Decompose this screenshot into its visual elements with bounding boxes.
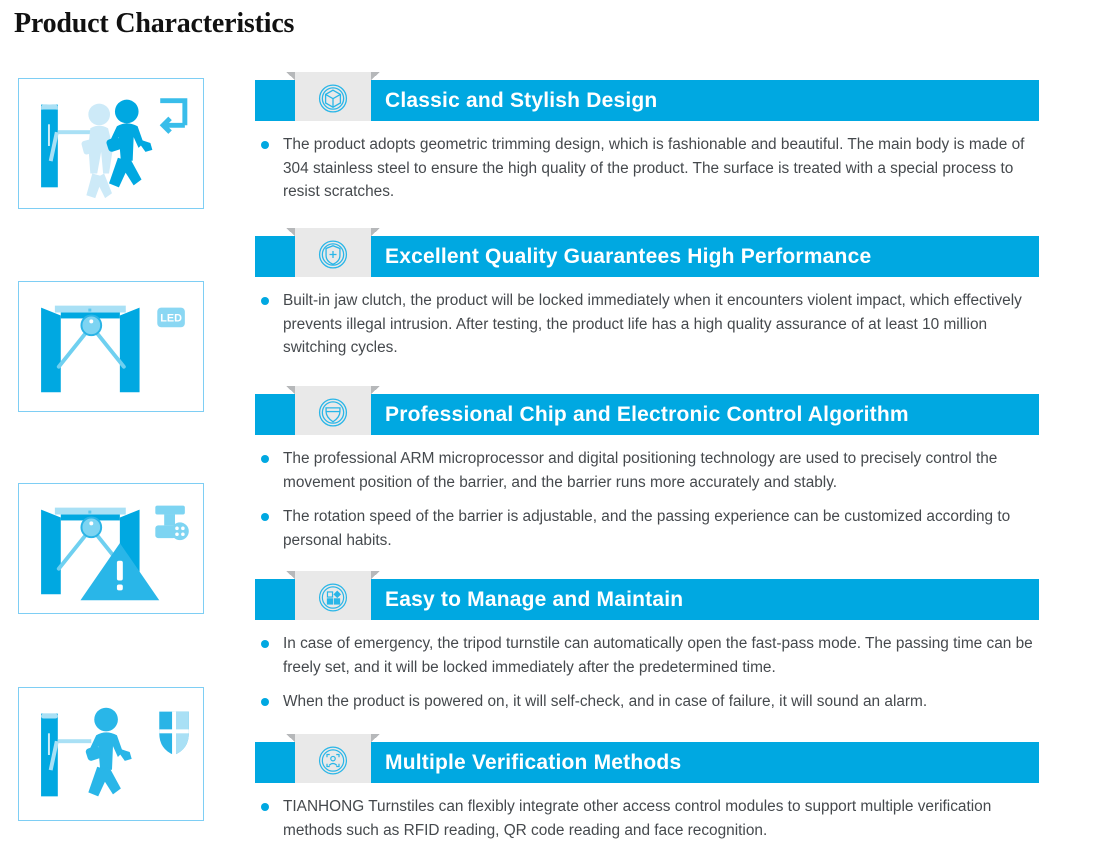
grid-shapes-icon [315,579,352,616]
pedestrian-front [106,100,153,188]
feature-bullet-list: Built-in jaw clutch, the product will be… [255,277,1039,360]
pedestrian-back [81,104,113,199]
feature-icon-ribbon [295,228,371,277]
pedestrian [85,708,132,797]
feature-header: Classic and Stylish Design [255,80,1039,121]
feature-title: Excellent Quality Guarantees High Perfor… [385,236,871,277]
list-item: The rotation speed of the barrier is adj… [255,505,1039,552]
feature-title: Easy to Manage and Maintain [385,579,683,620]
feature-title: Multiple Verification Methods [385,742,681,783]
feature-icon-ribbon [295,571,371,620]
face-scan-icon [315,742,352,779]
bullet-dot-icon [261,455,269,463]
feature-bullet-list: TIANHONG Turnstiles can flexibly integra… [255,783,1039,842]
gem-icon [315,394,352,431]
shield-icon [159,712,189,755]
turnstile-entry-illustration [18,78,204,209]
led-badge-icon: LED [157,308,185,328]
tripod-turnstile-led-illustration: LED [18,281,204,412]
feature-bullet-list: In case of emergency, the tripod turnsti… [255,620,1039,714]
feature-icon-ribbon [295,734,371,783]
list-item: The product adopts geometric trimming de… [255,133,1039,204]
feature-easy-to-manage-and-maintain: Easy to Manage and Maintain In case of e… [255,579,1039,714]
ribbon-fold-left [286,571,295,579]
cube-icon [315,80,352,117]
warning-triangle-icon [80,543,159,600]
list-item: When the product is powered on, it will … [255,690,1039,714]
feature-header: Easy to Manage and Maintain [255,579,1039,620]
feature-bullet-list: The professional ARM microprocessor and … [255,435,1039,552]
ribbon-fold-left [286,734,295,742]
ribbon-fold-left [286,72,295,80]
shield-plus-icon [315,236,352,273]
list-item: Built-in jaw clutch, the product will be… [255,289,1039,360]
turnstile-security-illustration [18,687,204,821]
feature-title: Classic and Stylish Design [385,80,657,121]
bullet-text: The professional ARM microprocessor and … [283,450,997,491]
page-title: Product Characteristics [14,8,294,40]
bullet-text: The rotation speed of the barrier is adj… [283,508,1010,549]
entry-arrow-icon [160,101,185,133]
feature-professional-chip-and-electronic-control-algorithm: Professional Chip and Electronic Control… [255,394,1039,552]
bullet-text: Built-in jaw clutch, the product will be… [283,292,1022,356]
ribbon-fold-right [371,571,380,579]
tripod-turnstile-alert-illustration [18,483,204,614]
feature-multiple-verification-methods: Multiple Verification Methods TIANHONG T… [255,742,1039,842]
feature-icon-ribbon [295,72,371,121]
bullet-text: TIANHONG Turnstiles can flexibly integra… [283,798,991,839]
list-item: TIANHONG Turnstiles can flexibly integra… [255,795,1039,842]
bullet-text: When the product is powered on, it will … [283,693,927,710]
feature-header: Excellent Quality Guarantees High Perfor… [255,236,1039,277]
feature-header: Multiple Verification Methods [255,742,1039,783]
feature-classic-and-stylish-design: Classic and Stylish Design The product a… [255,80,1039,204]
feature-title: Professional Chip and Electronic Control… [385,394,909,435]
ribbon-fold-right [371,228,380,236]
ribbon-fold-right [371,386,380,394]
bullet-dot-icon [261,297,269,305]
bullet-dot-icon [261,141,269,149]
feature-excellent-quality-guarantees-high-performance: Excellent Quality Guarantees High Perfor… [255,236,1039,360]
bullet-text: The product adopts geometric trimming de… [283,136,1024,200]
ribbon-fold-left [286,228,295,236]
ribbon-fold-left [286,386,295,394]
svg-text:LED: LED [160,312,182,324]
list-item: The professional ARM microprocessor and … [255,447,1039,494]
bullet-dot-icon [261,698,269,706]
ribbon-fold-right [371,72,380,80]
ribbon-fold-right [371,734,380,742]
bullet-text: In case of emergency, the tripod turnsti… [283,635,1033,676]
list-item: In case of emergency, the tripod turnsti… [255,632,1039,679]
feature-bullet-list: The product adopts geometric trimming de… [255,121,1039,204]
bullet-dot-icon [261,803,269,811]
feature-header: Professional Chip and Electronic Control… [255,394,1039,435]
feature-icon-ribbon [295,386,371,435]
bullet-dot-icon [261,640,269,648]
clutch-icon [155,506,188,540]
bullet-dot-icon [261,513,269,521]
